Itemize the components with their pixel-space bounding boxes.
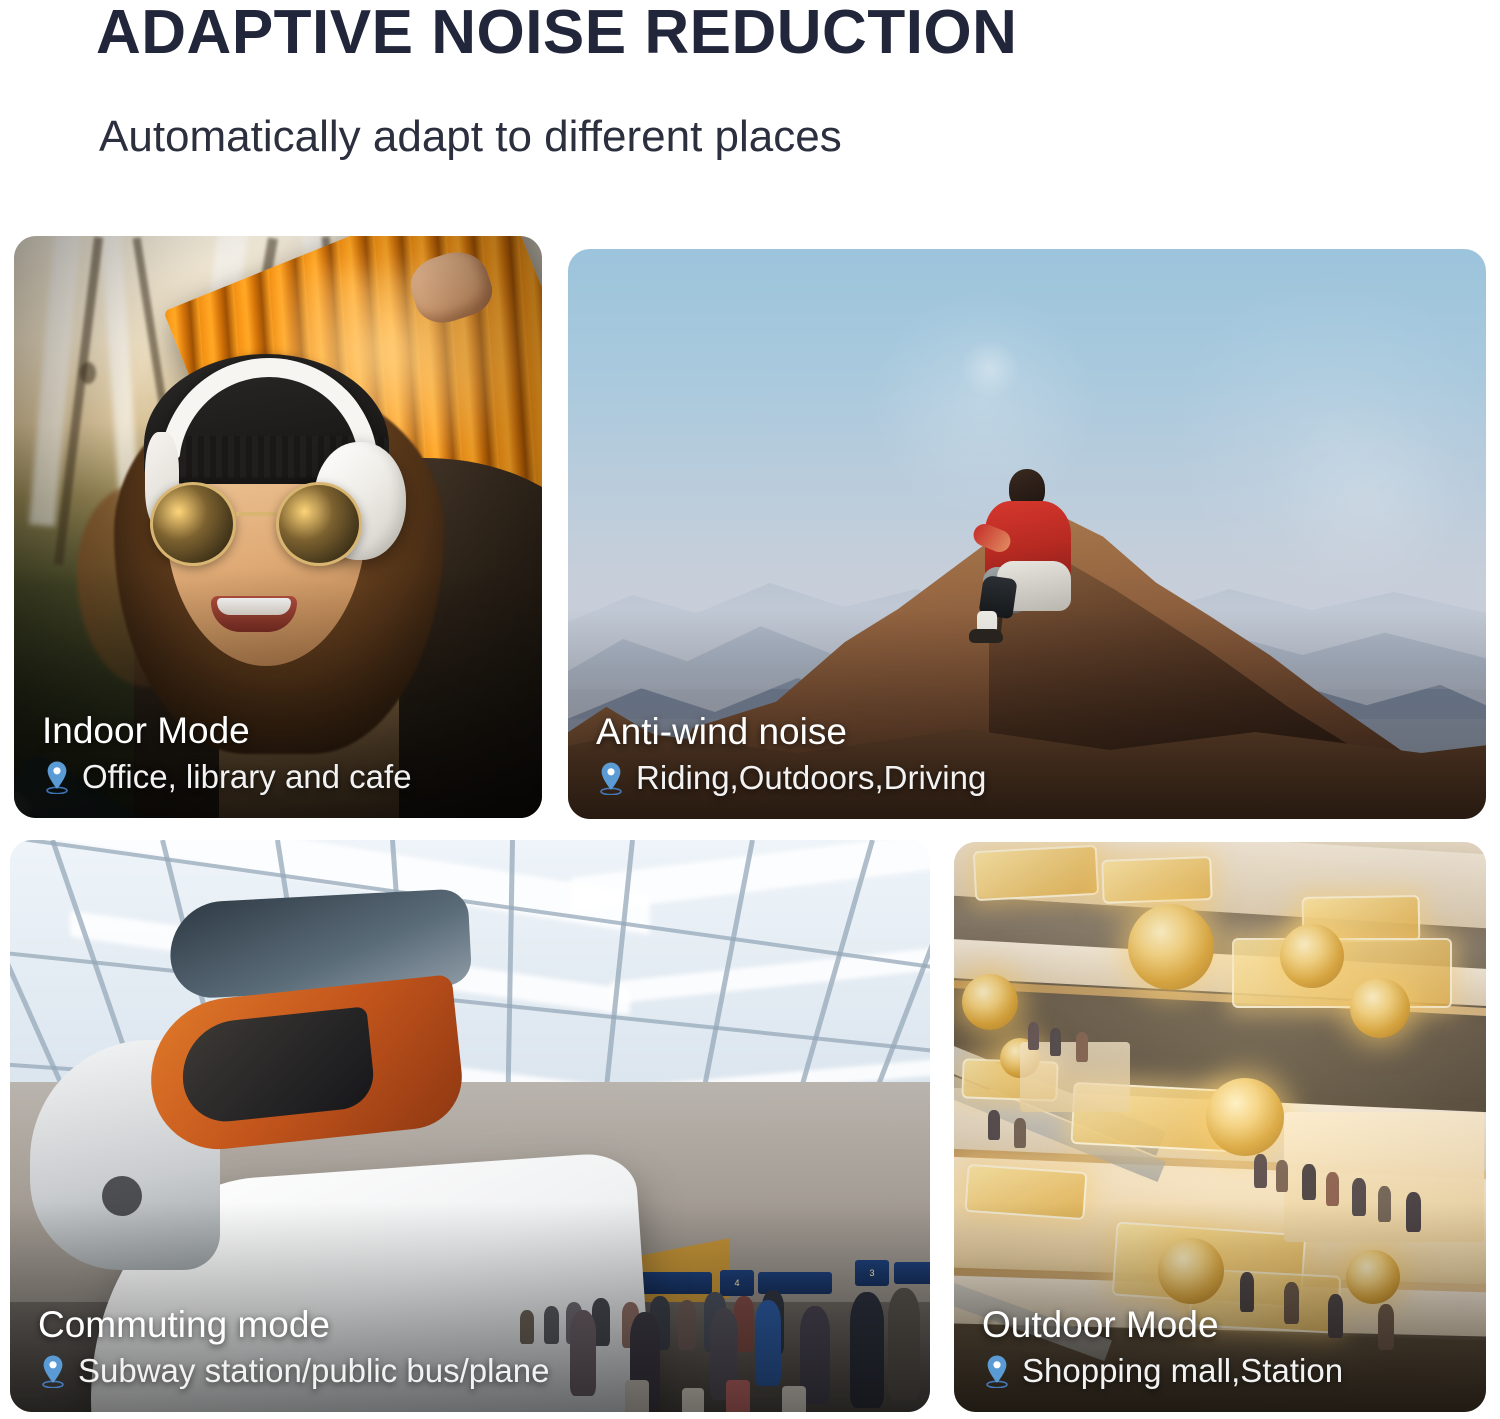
location-pin-icon — [42, 760, 72, 794]
location-pin-icon — [596, 761, 626, 795]
feature-card-anti-wind[interactable]: Anti-wind noise Riding,Outdoors,Driving — [568, 249, 1486, 819]
caption-location: Shopping mall,Station — [982, 1352, 1343, 1390]
caption-anti-wind: Anti-wind noise Riding,Outdoors,Driving — [568, 711, 986, 819]
feature-card-outdoor[interactable]: Outdoor Mode Shopping mall,Station — [954, 842, 1486, 1412]
caption-title: Indoor Mode — [42, 710, 412, 753]
caption-location-text: Office, library and cafe — [82, 758, 412, 796]
feature-card-commuting[interactable]: 5 4 3 — [10, 840, 930, 1412]
caption-location-text: Shopping mall,Station — [1022, 1352, 1343, 1390]
hiker-figure — [967, 469, 1087, 619]
caption-location: Riding,Outdoors,Driving — [596, 759, 986, 797]
caption-title: Anti-wind noise — [596, 711, 986, 754]
caption-location-text: Riding,Outdoors,Driving — [636, 759, 986, 797]
caption-outdoor: Outdoor Mode Shopping mall,Station — [954, 1304, 1343, 1412]
caption-title: Commuting mode — [38, 1304, 549, 1347]
product-feature-page: ADAPTIVE NOISE REDUCTION Automatically a… — [0, 0, 1500, 1419]
page-subtitle: Automatically adapt to different places — [99, 112, 842, 163]
caption-location: Subway station/public bus/plane — [38, 1352, 549, 1390]
feature-card-indoor[interactable]: Indoor Mode Office, library and cafe — [14, 236, 542, 818]
location-pin-icon — [38, 1354, 68, 1388]
caption-location-text: Subway station/public bus/plane — [78, 1352, 549, 1390]
caption-title: Outdoor Mode — [982, 1304, 1343, 1347]
caption-commuting: Commuting mode Subway station/public bus… — [10, 1304, 549, 1412]
caption-location: Office, library and cafe — [42, 758, 412, 796]
location-pin-icon — [982, 1354, 1012, 1388]
page-title: ADAPTIVE NOISE REDUCTION — [96, 2, 1017, 64]
caption-indoor: Indoor Mode Office, library and cafe — [14, 710, 412, 818]
